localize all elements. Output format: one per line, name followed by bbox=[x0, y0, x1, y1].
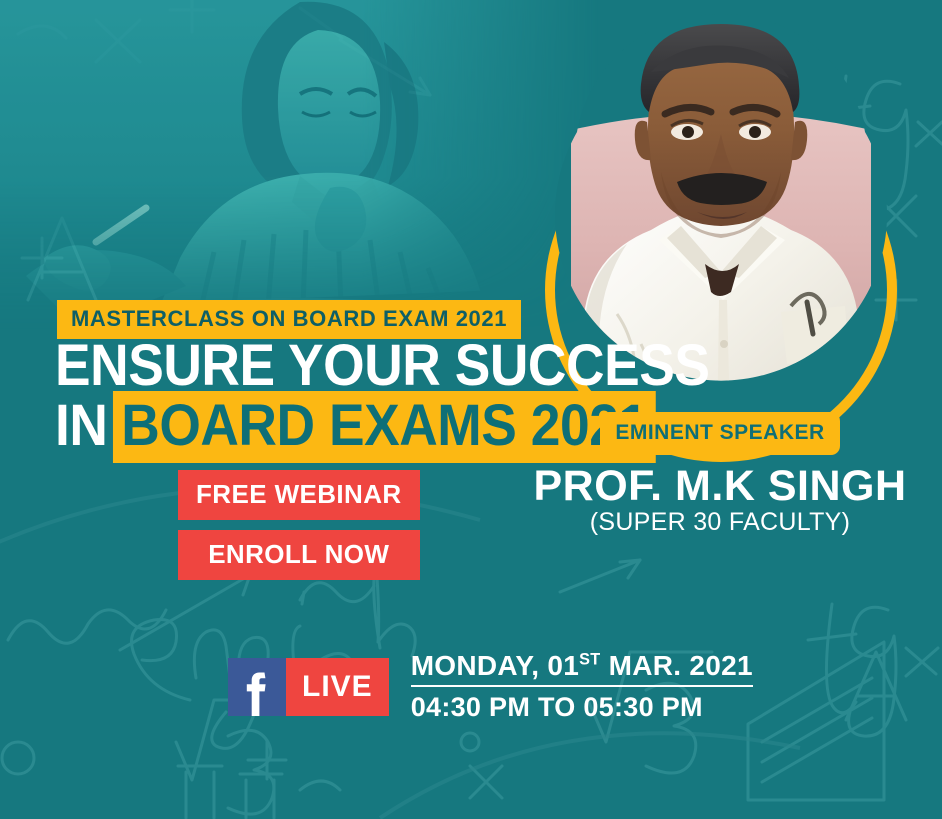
speaker-affiliation: (SUPER 30 FACULTY) bbox=[510, 508, 930, 537]
webinar-promo-banner: MASTERCLASS ON BOARD EXAM 2021 ENSURE YO… bbox=[0, 0, 942, 819]
headline-line-1: ENSURE YOUR SUCCESS bbox=[55, 338, 709, 394]
cta-group: FREE WEBINAR ENROLL NOW bbox=[178, 470, 420, 580]
background-student-photo bbox=[0, 0, 600, 330]
headline-line-2-prefix: IN bbox=[55, 393, 107, 458]
event-date-rest: MAR. 2021 bbox=[601, 650, 753, 681]
event-date-ordinal: ST bbox=[579, 651, 600, 669]
enroll-now-button[interactable]: ENROLL NOW bbox=[178, 530, 420, 580]
event-date-main: MONDAY, 01 bbox=[411, 650, 579, 681]
live-badge: LIVE bbox=[286, 658, 389, 716]
speaker-name-wrap: PROF. M.K SINGH bbox=[510, 462, 930, 511]
event-date: MONDAY, 01ST MAR. 2021 bbox=[411, 650, 753, 687]
free-webinar-button[interactable]: FREE WEBINAR bbox=[178, 470, 420, 520]
broadcast-bar: LIVE MONDAY, 01ST MAR. 2021 04:30 PM TO … bbox=[228, 650, 753, 723]
speaker-name: PROF. M.K SINGH bbox=[510, 462, 930, 511]
facebook-icon[interactable] bbox=[228, 658, 286, 716]
schedule: MONDAY, 01ST MAR. 2021 04:30 PM TO 05:30… bbox=[411, 650, 753, 723]
headline-highlight: BOARD EXAMS 2021 bbox=[113, 391, 656, 463]
event-time: 04:30 PM TO 05:30 PM bbox=[411, 687, 753, 723]
eminent-speaker-badge: EMINENT SPEAKER bbox=[600, 412, 840, 455]
